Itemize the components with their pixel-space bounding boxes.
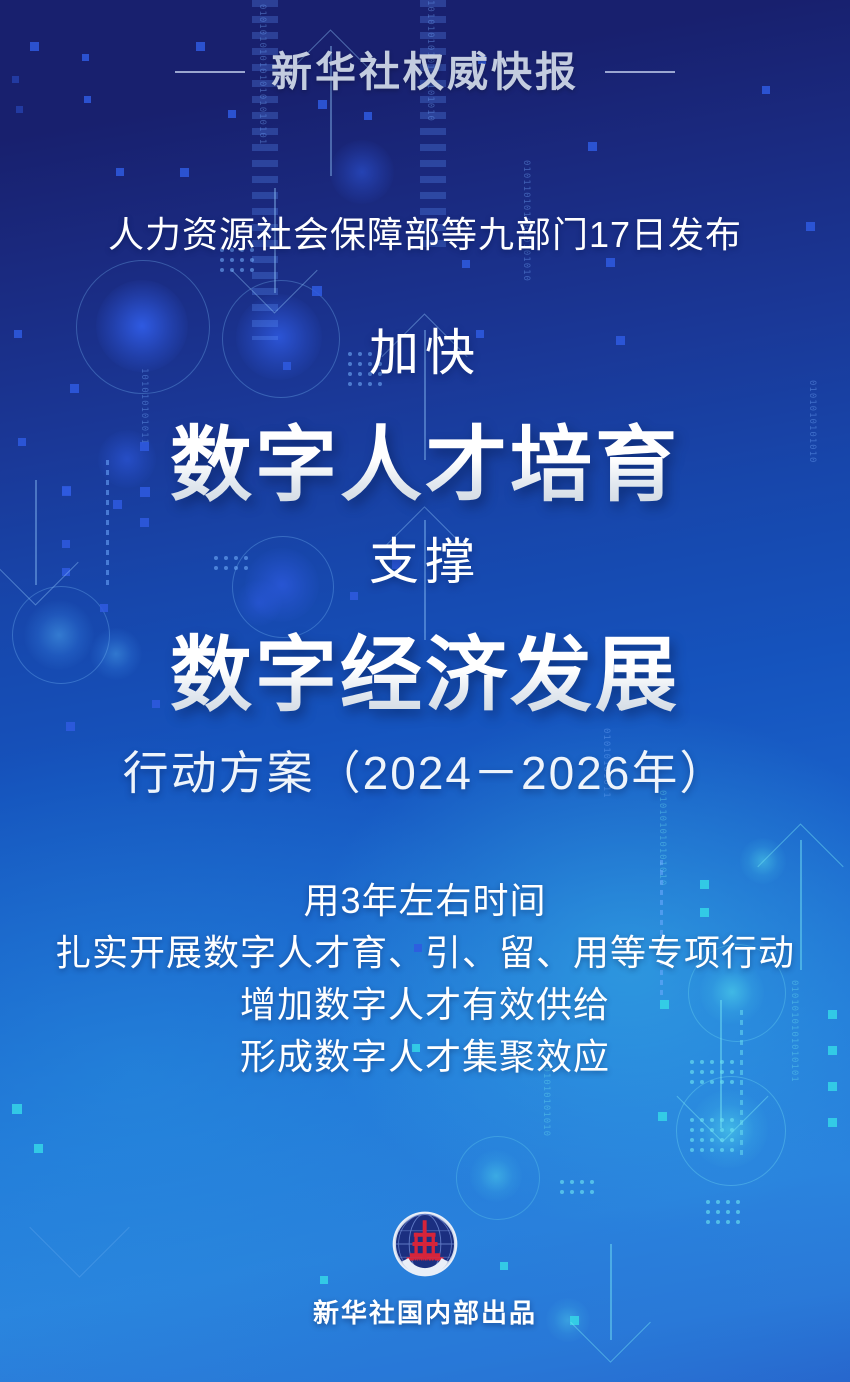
news-poster: 0101010101010101010101 10101010101011010… <box>0 0 850 1382</box>
kicker-rule-left <box>175 71 245 73</box>
plan-period-line: 行动方案（2024－2026年） <box>0 737 850 803</box>
body-line: 形成数字人才集聚效应 <box>0 1031 850 1083</box>
footer-caption: 新华社国内部出品 <box>0 1293 850 1330</box>
title-line-4: 数字经济发展 <box>0 608 850 727</box>
eyebrow-text: 人力资源社会保障部等九部门17日发布 <box>0 206 850 258</box>
kicker-text: 新华社权威快报 <box>271 48 579 96</box>
kicker-rule-right <box>605 71 675 73</box>
kicker-banner: 新华社权威快报 <box>0 48 850 96</box>
poster-footer: XINHUA 新华社国内部出品 <box>0 1211 850 1330</box>
body-line: 用3年左右时间 <box>0 875 850 927</box>
title-line-3: 支撑 <box>0 522 850 594</box>
title-line-2: 数字人才培育 <box>0 398 850 517</box>
body-text-block: 用3年左右时间 扎实开展数字人才育、引、留、用等专项行动 增加数字人才有效供给 … <box>0 875 850 1083</box>
body-line: 扎实开展数字人才育、引、留、用等专项行动 <box>0 927 850 979</box>
xinhua-logo-icon: XINHUA <box>392 1211 458 1277</box>
body-line: 增加数字人才有效供给 <box>0 979 850 1031</box>
xinhua-logo-label: XINHUA <box>414 1260 437 1266</box>
title-line-1: 加快 <box>0 313 850 385</box>
poster-content: 新华社权威快报 人力资源社会保障部等九部门17日发布 加快 数字人才培育 支撑 … <box>0 0 850 1382</box>
